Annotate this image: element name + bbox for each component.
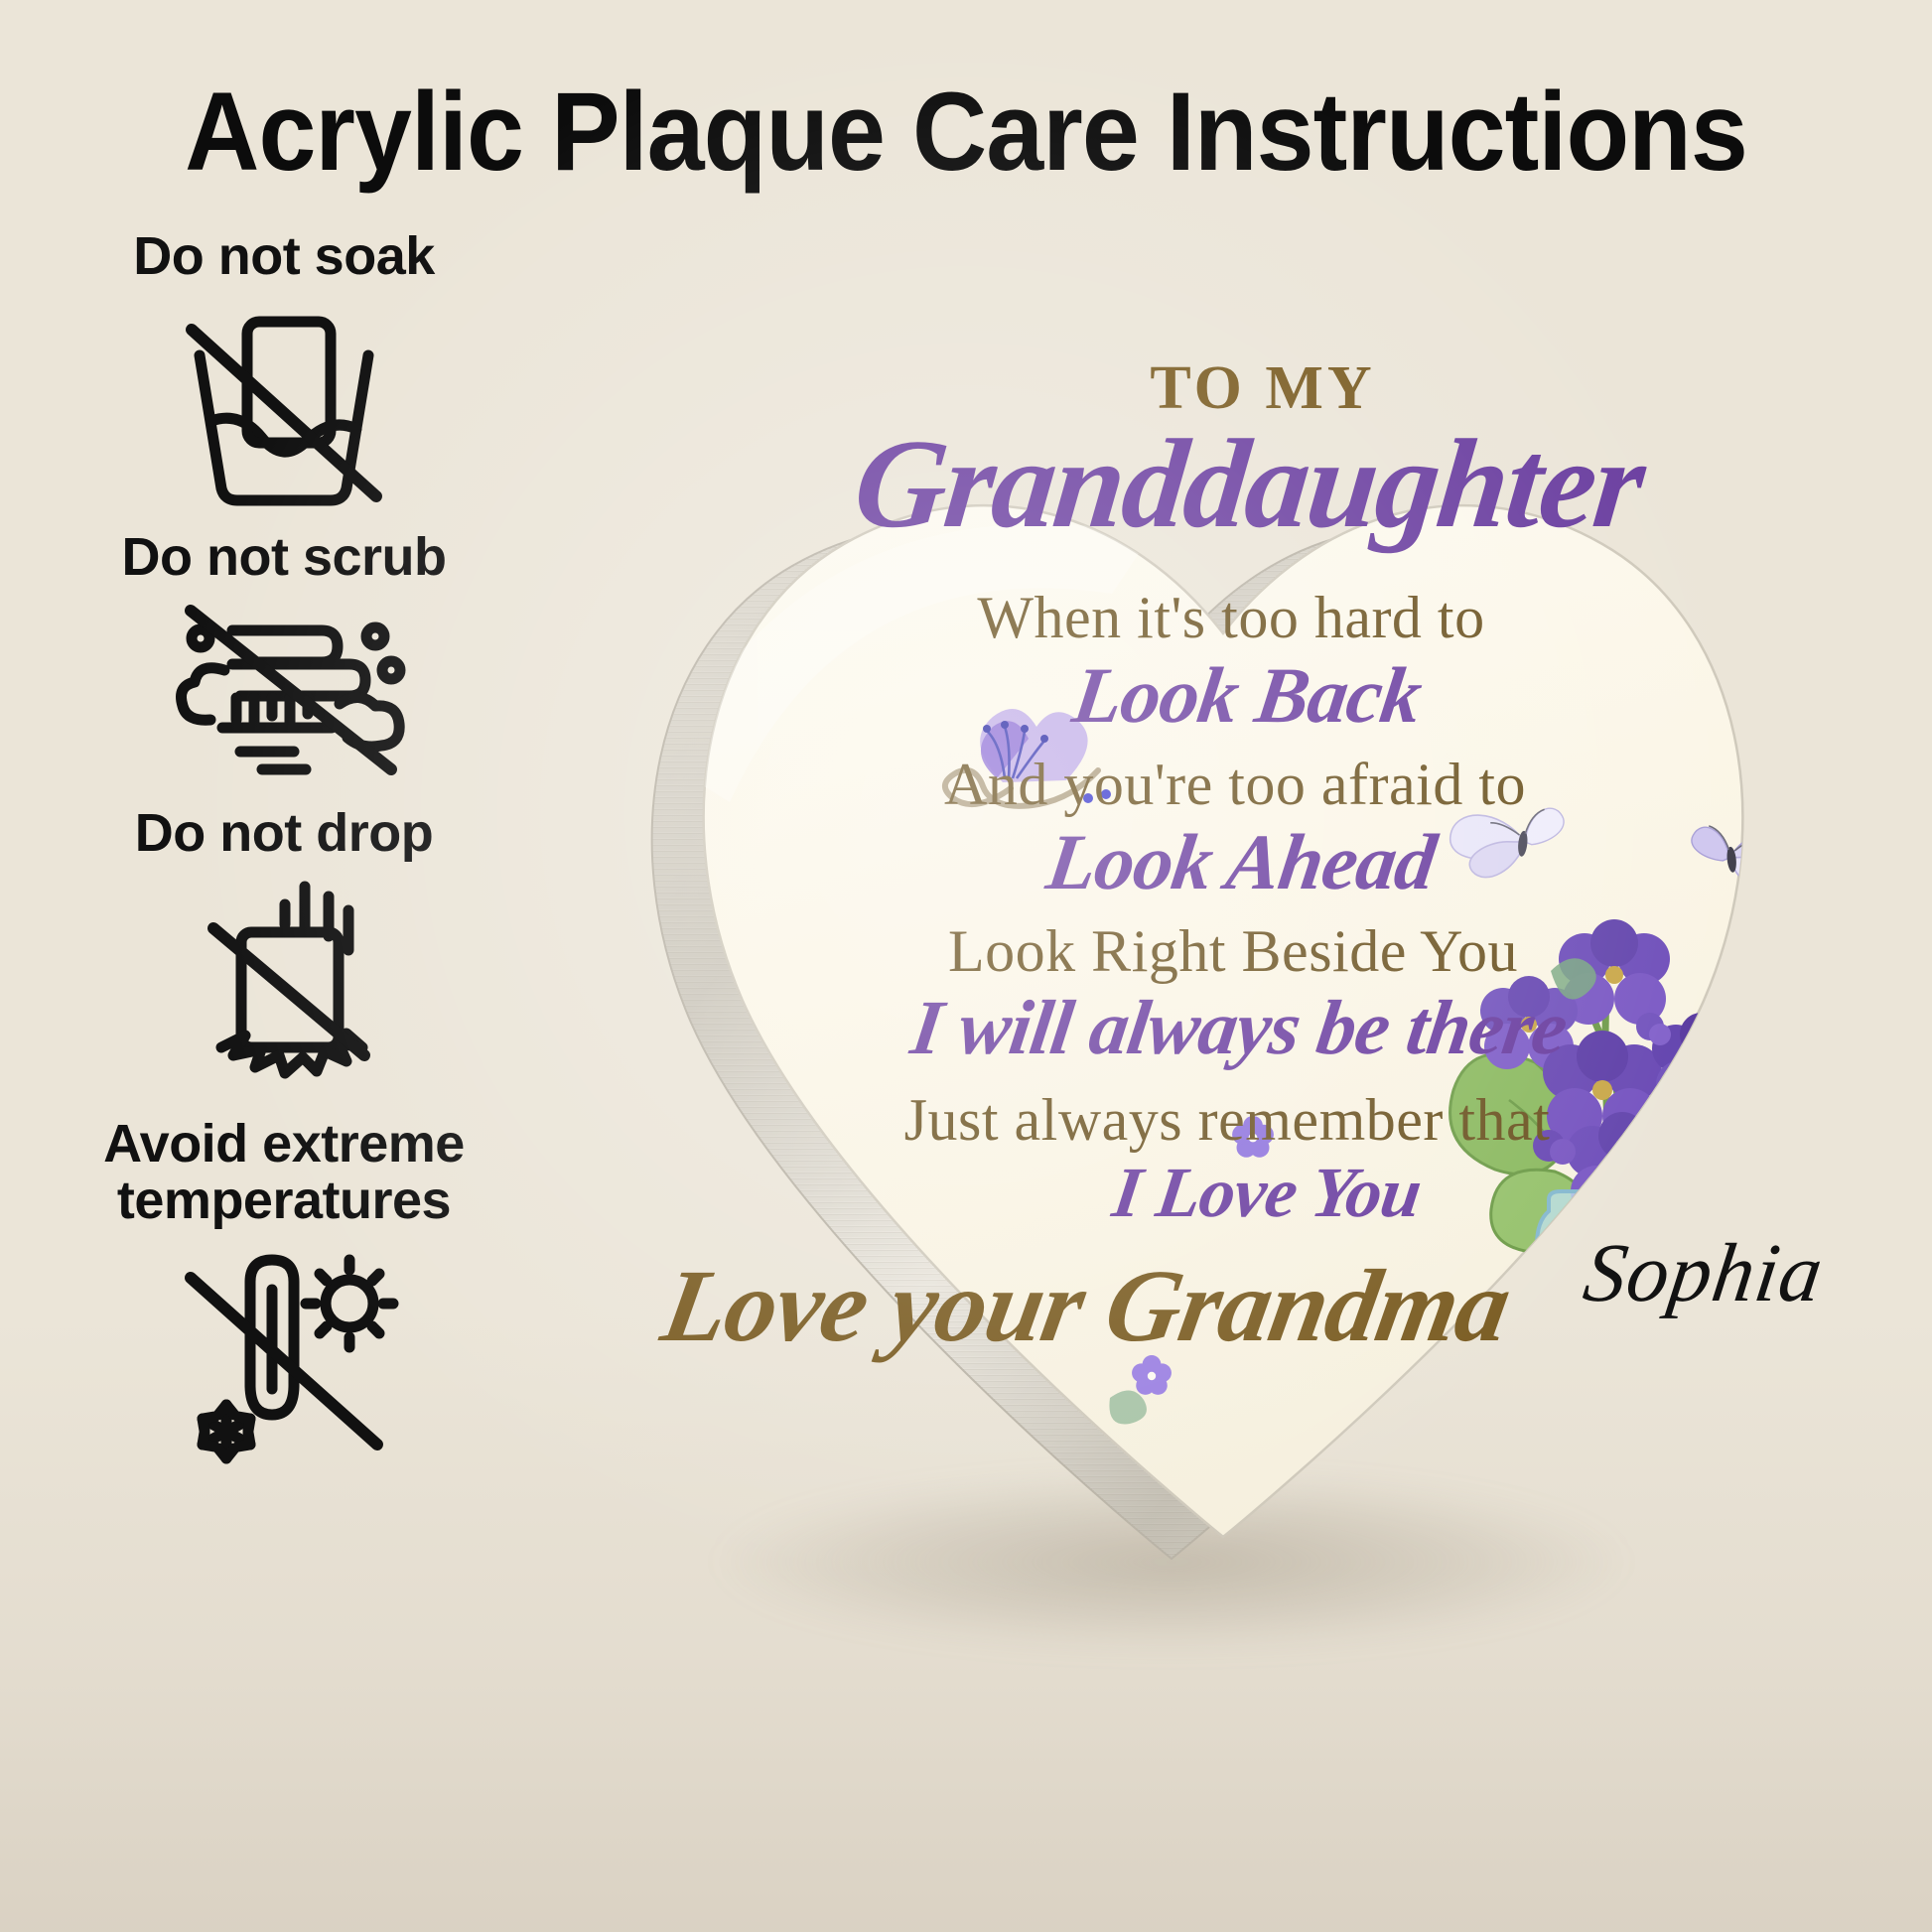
care-instructions-list: Do not soak Do not scrub bbox=[36, 228, 532, 1488]
page-title: Acrylic Plaque Care Instructions bbox=[68, 68, 1864, 196]
care-item-do-not-soak: Do not soak bbox=[36, 228, 532, 507]
no-drop-icon bbox=[170, 871, 398, 1094]
care-item-avoid-extreme-temperatures: Avoid extreme temperatures bbox=[36, 1116, 532, 1465]
care-label: Do not soak bbox=[36, 228, 532, 284]
heart-plaque-svg bbox=[516, 207, 1926, 1616]
mason-jar bbox=[1537, 1191, 1729, 1430]
acrylic-plaque: TO MY Granddaughter When it's too hard t… bbox=[516, 207, 1926, 1616]
no-scrub-icon bbox=[155, 595, 413, 783]
care-item-do-not-scrub: Do not scrub bbox=[36, 529, 532, 783]
care-item-do-not-drop: Do not drop bbox=[36, 805, 532, 1094]
care-label: Avoid extreme temperatures bbox=[36, 1116, 532, 1227]
care-label: Do not drop bbox=[36, 805, 532, 861]
star-icon bbox=[652, 1328, 755, 1416]
no-extreme-temperature-icon bbox=[165, 1238, 403, 1466]
no-soak-icon bbox=[170, 294, 398, 507]
care-label: Do not scrub bbox=[36, 529, 532, 585]
